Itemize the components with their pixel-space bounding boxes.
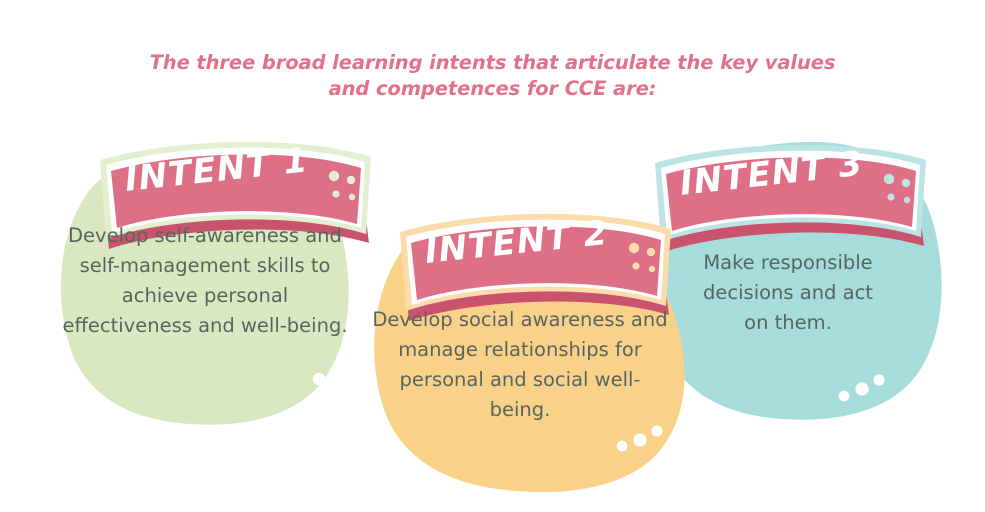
ribbon-dot: [902, 179, 910, 187]
ribbon-dot: [629, 243, 639, 253]
blob-dot: [313, 373, 325, 385]
ribbon-dot: [887, 193, 894, 200]
intent-3-body-text: Make responsible decisions and act on th…: [688, 248, 888, 338]
ribbon-dot: [904, 197, 910, 203]
ribbon-dot: [884, 174, 894, 184]
intent-1-body-text: Develop self-awareness and self-manageme…: [60, 221, 350, 341]
intent-2-body-text: Develop social awareness and manage rela…: [370, 305, 670, 425]
infographic-canvas: The three broad learning intents that ar…: [0, 0, 985, 512]
ribbon-dot: [632, 262, 639, 269]
blob-dot: [651, 425, 662, 436]
ribbon-dot: [649, 266, 655, 272]
blob-dot: [330, 369, 340, 379]
blob-dot: [855, 382, 868, 395]
blob-dot: [341, 360, 354, 373]
ribbon-dot: [349, 194, 355, 200]
ribbon-dot: [347, 176, 355, 184]
blob-dot: [617, 441, 628, 452]
ribbon-dot: [647, 248, 655, 256]
blob-dot: [839, 391, 850, 402]
ribbon-dot: [332, 190, 339, 197]
ribbon-dot: [329, 171, 339, 181]
blob-dot: [633, 433, 646, 446]
blob-dot: [873, 374, 884, 385]
